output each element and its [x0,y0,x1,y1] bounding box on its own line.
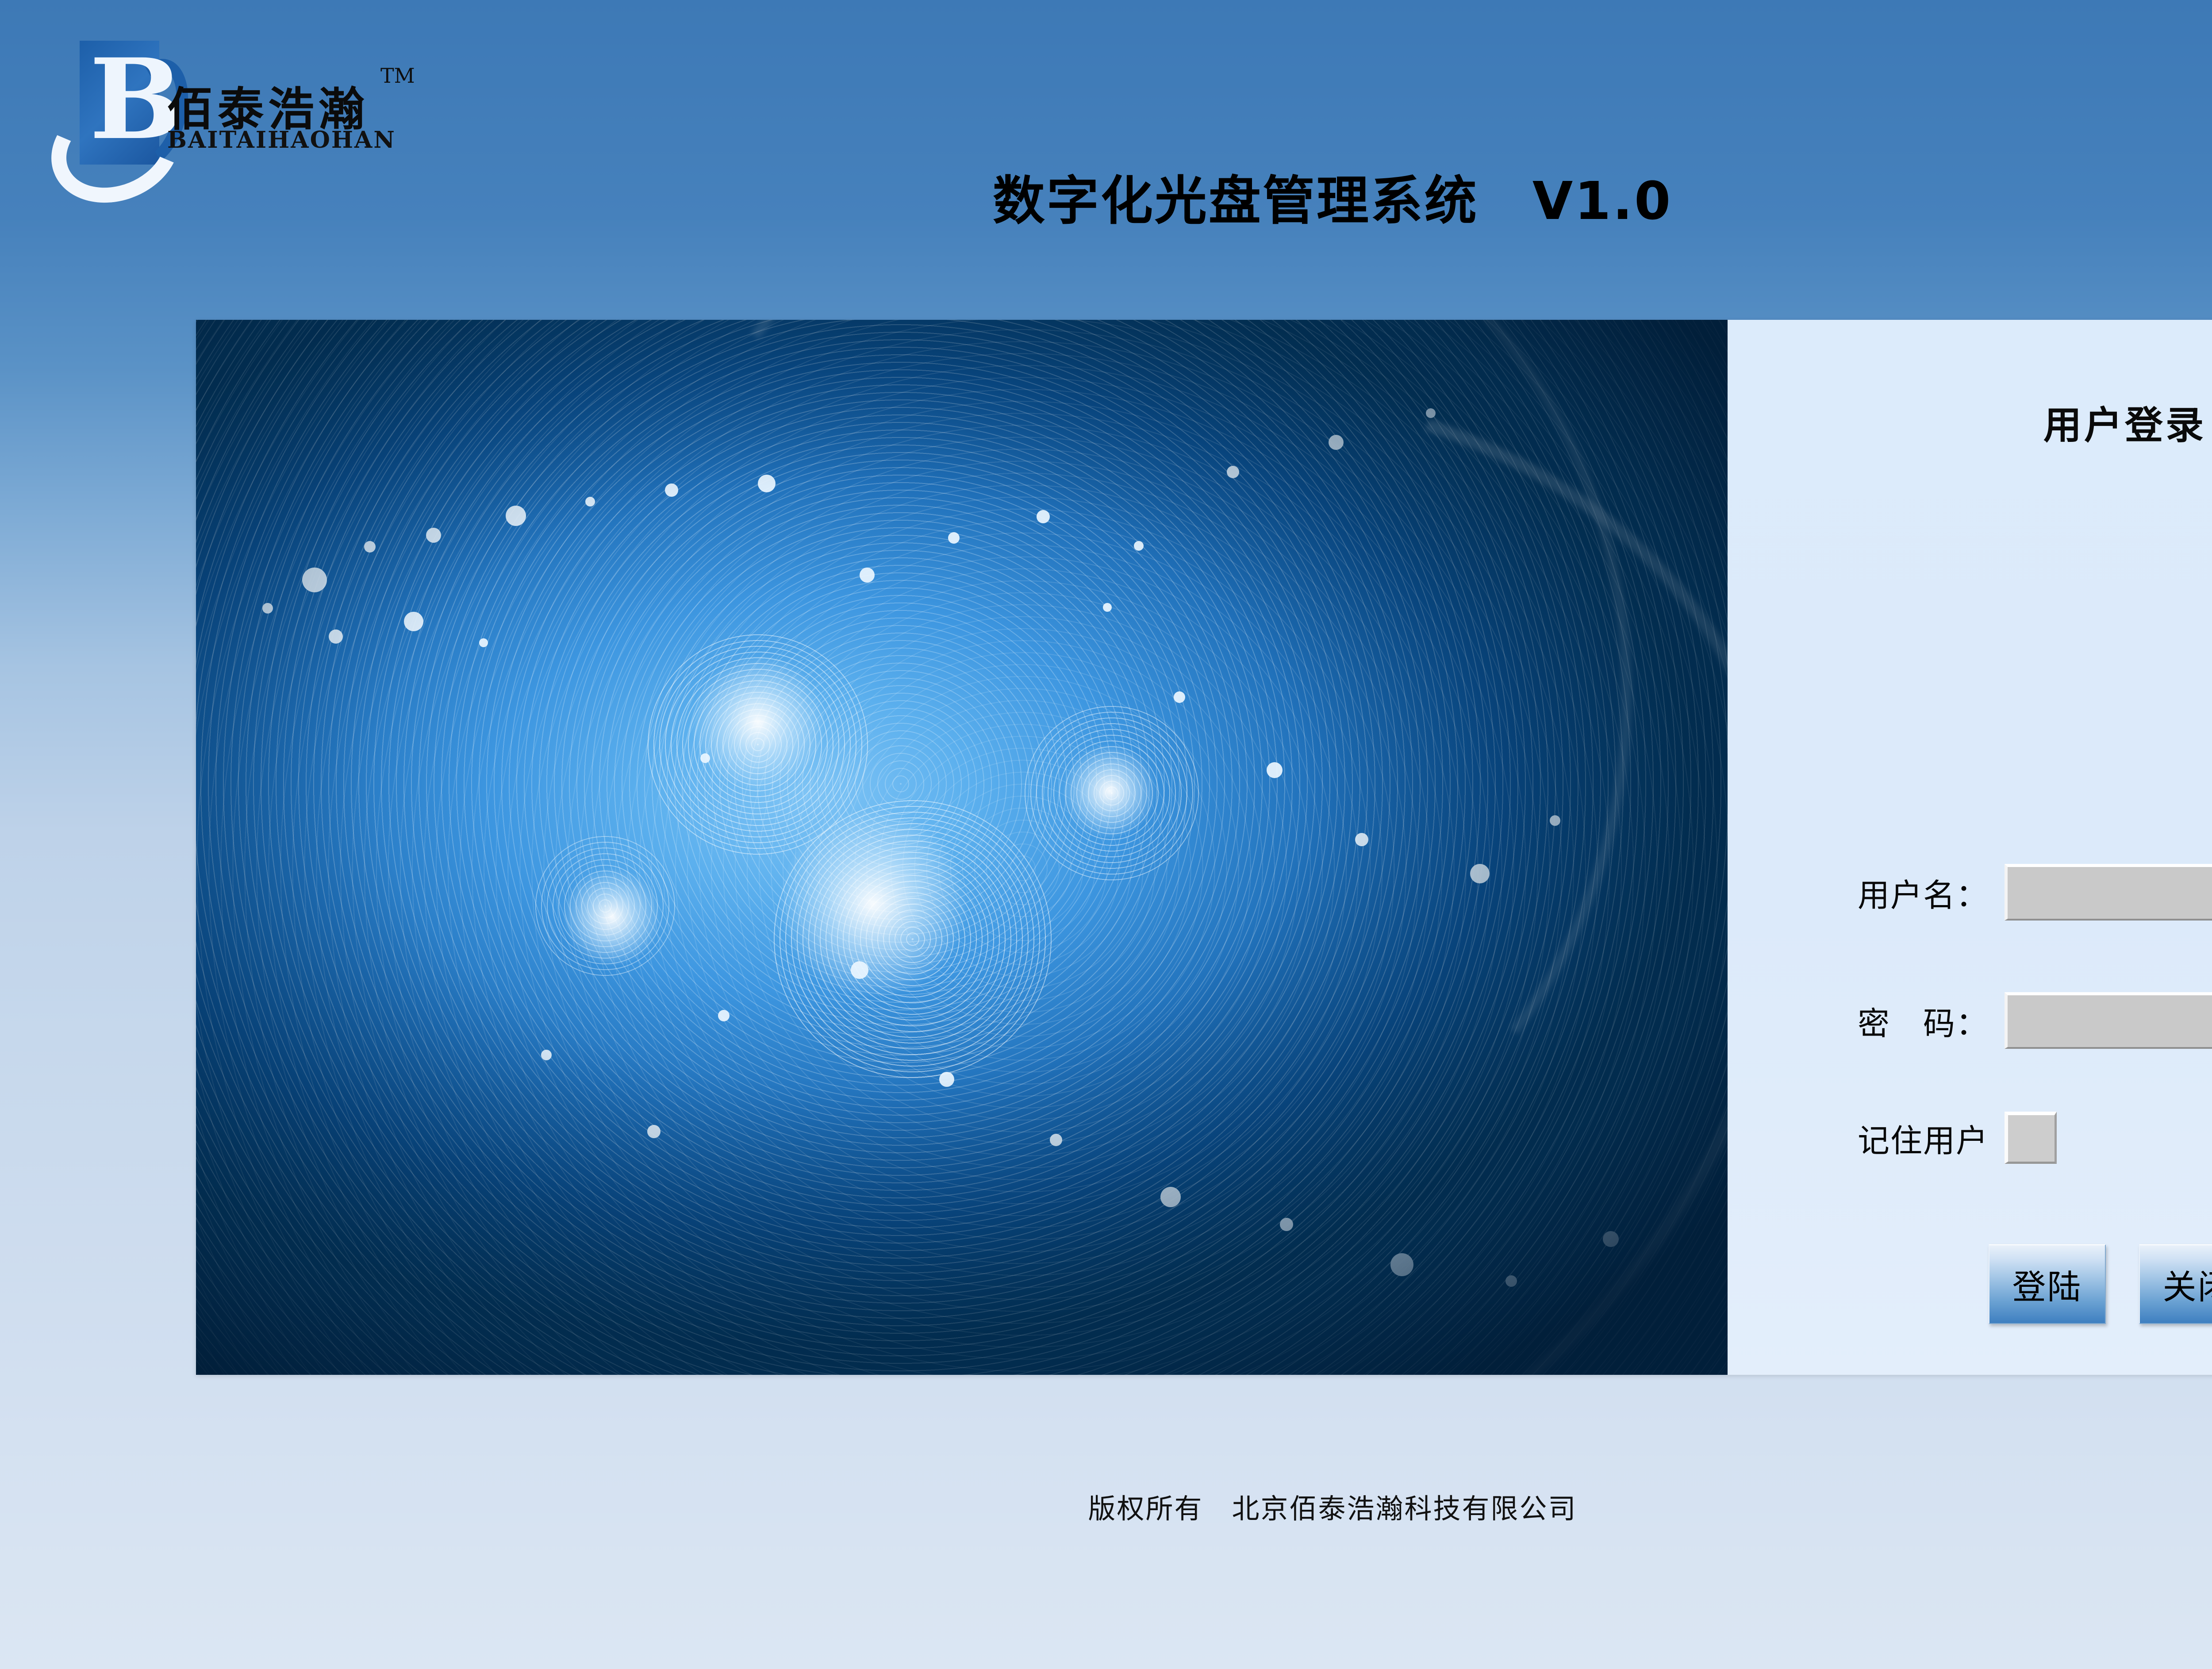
username-row: 用户名： [1728,864,2212,921]
copyright-footer: 版权所有 北京佰泰浩瀚科技有限公司 [0,1486,2212,1526]
page-title: 数字化光盘管理系统 V1.0 [0,158,2212,234]
username-label: 用户名： [1728,869,2005,916]
username-input[interactable] [2005,864,2212,921]
login-screen: B 佰泰浩瀚 BAITAIHAOHAN TM 数字化光盘管理系统 V1.0 [0,0,2212,1669]
login-heading: 用户登录 [1728,394,2212,449]
remember-user-checkbox[interactable] [2005,1112,2057,1164]
logo-mark-icon: B [53,41,159,165]
logo-letter: B [89,54,147,147]
hero-graphic [196,320,1728,1375]
brand-logo: B 佰泰浩瀚 BAITAIHAOHAN TM [53,27,411,169]
action-button-row: 登陆 关闭 [1989,1244,2212,1324]
remember-user-label: 记住用户 [1728,1115,2005,1161]
hero-vignette [196,320,1728,1375]
password-row: 密 码： [1728,992,2212,1049]
password-input[interactable] [2005,992,2212,1049]
trademark-symbol: TM [380,64,415,88]
content-area: 用户登录 用户名： 密 码： 记住用户 登陆 关闭 [196,320,2212,1375]
password-label: 密 码： [1728,998,2005,1044]
remember-user-row: 记住用户 [1728,1112,2212,1164]
close-button[interactable]: 关闭 [2139,1244,2212,1324]
logo-company-name-en: BAITAIHAOHAN [167,127,396,153]
login-form-panel: 用户登录 用户名： 密 码： 记住用户 登陆 关闭 [1728,320,2212,1375]
login-button[interactable]: 登陆 [1989,1244,2106,1324]
